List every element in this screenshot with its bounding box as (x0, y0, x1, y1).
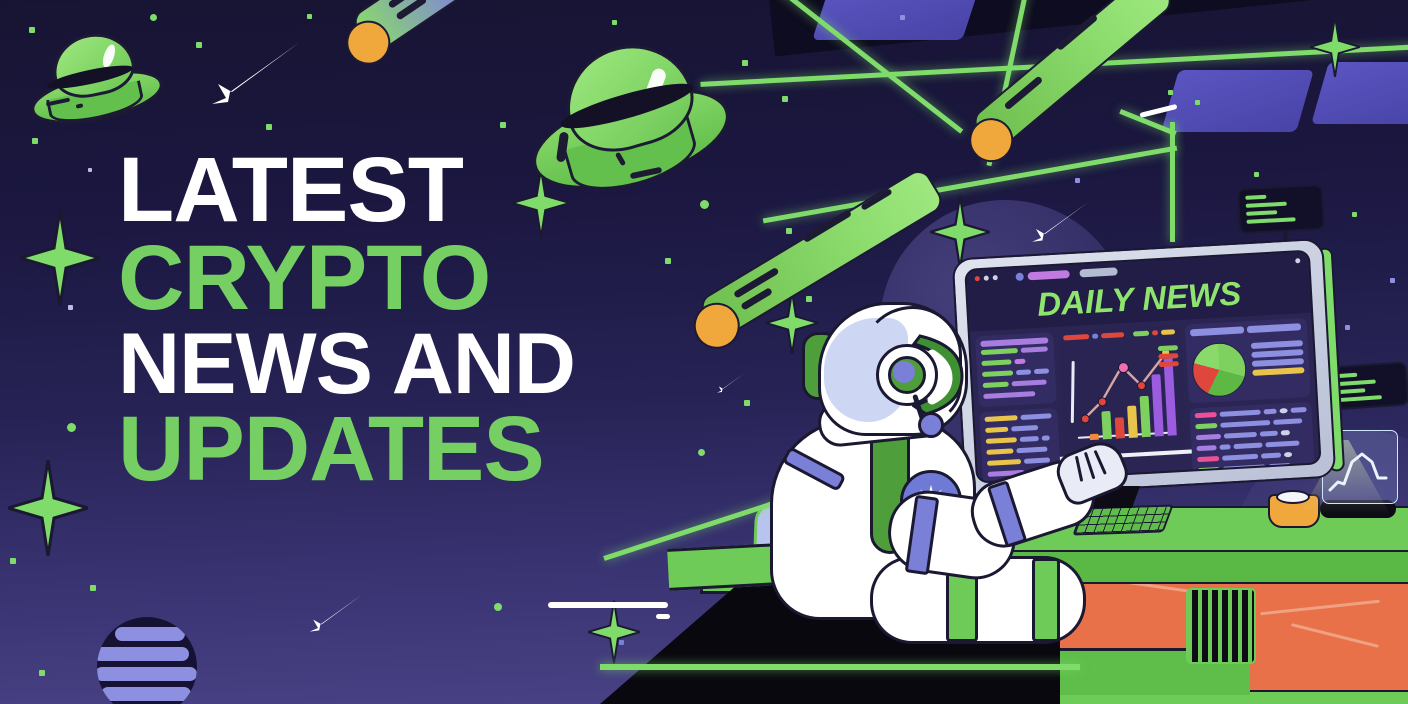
chart-side-legend (1158, 345, 1178, 351)
astronaut-helmet-port-core (893, 361, 915, 383)
address-bar[interactable] (1079, 267, 1117, 277)
light-streak-1 (548, 602, 668, 608)
canister (1186, 588, 1256, 664)
window-close-dot[interactable] (975, 276, 980, 281)
astronaut (740, 300, 1100, 704)
coffee-lid (1276, 490, 1310, 504)
pie-chart (1191, 341, 1248, 398)
tab-active[interactable] (1027, 270, 1069, 280)
pie-legend-item (1251, 340, 1303, 349)
astronaut-leg-band-2 (1032, 558, 1060, 642)
chart-legend-bar (1152, 330, 1158, 335)
headline-line-2: CRYPTO (118, 234, 738, 322)
shooting-star-icon-2 (1022, 200, 1092, 244)
hero-banner: LATEST CRYPTO NEWS AND UPDATES (0, 0, 1408, 704)
tab-indicator[interactable] (1015, 272, 1023, 280)
chart-legend-bar (1161, 329, 1175, 335)
light-streak-2 (656, 614, 670, 619)
light-streak-3 (1139, 104, 1177, 118)
headline-line-3: NEWS AND (118, 323, 738, 406)
pie-legend-item (1252, 358, 1304, 367)
dashboard-right-column (1185, 318, 1314, 445)
chart-legend-bar (1101, 332, 1125, 338)
window-max-dot[interactable] (993, 275, 998, 280)
headline-line-1: LATEST (118, 146, 738, 234)
page-title: LATEST CRYPTO NEWS AND UPDATES (118, 146, 738, 493)
chart-side-legend (1158, 353, 1178, 359)
shooting-star-icon-3 (300, 592, 366, 634)
menu-dot[interactable] (1295, 258, 1300, 263)
pie-legend-item (1252, 367, 1304, 376)
chart-side-legend (1159, 361, 1179, 367)
terminal-upper-right (1237, 184, 1325, 234)
chart-legend-bar (1133, 331, 1149, 337)
pie-legend-item (1251, 349, 1303, 358)
shooting-star-icon-1 (196, 40, 306, 106)
pie-card (1185, 318, 1311, 404)
astronaut-hose-joint (918, 412, 944, 438)
headline-line-4: UPDATES (118, 405, 738, 493)
ufo-top-left (30, 26, 160, 126)
window-min-dot[interactable] (984, 276, 989, 281)
